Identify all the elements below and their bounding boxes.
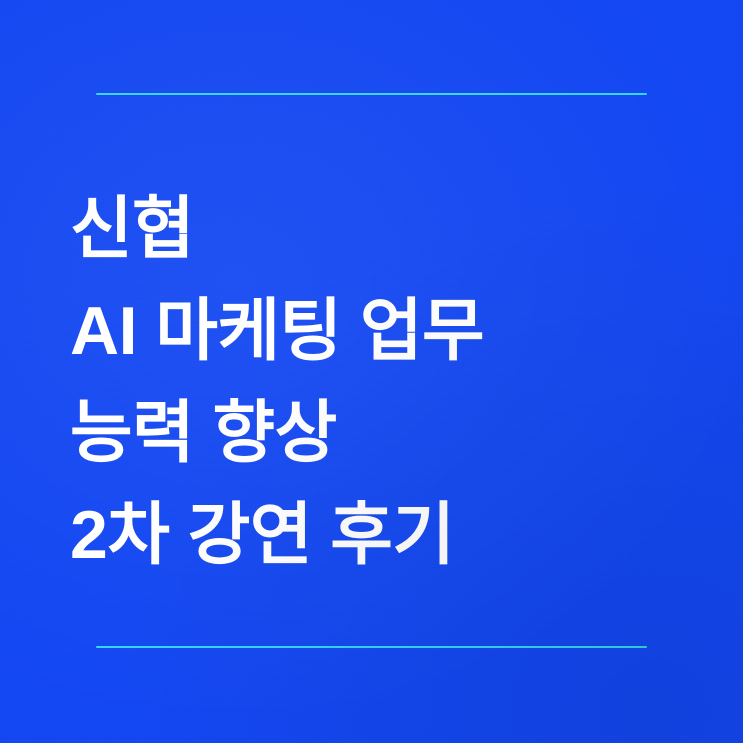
headline-line-4: 2차 강연 후기 bbox=[70, 484, 690, 586]
headline-line-1: 신협 bbox=[70, 178, 690, 280]
page-title: 신협 AI 마케팅 업무 능력 향상 2차 강연 후기 bbox=[70, 178, 690, 586]
thumbnail-card: 신협 AI 마케팅 업무 능력 향상 2차 강연 후기 bbox=[0, 0, 743, 743]
bottom-divider bbox=[96, 646, 647, 648]
headline-line-2: AI 마케팅 업무 bbox=[70, 280, 690, 382]
headline-line-3: 능력 향상 bbox=[70, 382, 690, 484]
top-divider bbox=[96, 93, 647, 95]
